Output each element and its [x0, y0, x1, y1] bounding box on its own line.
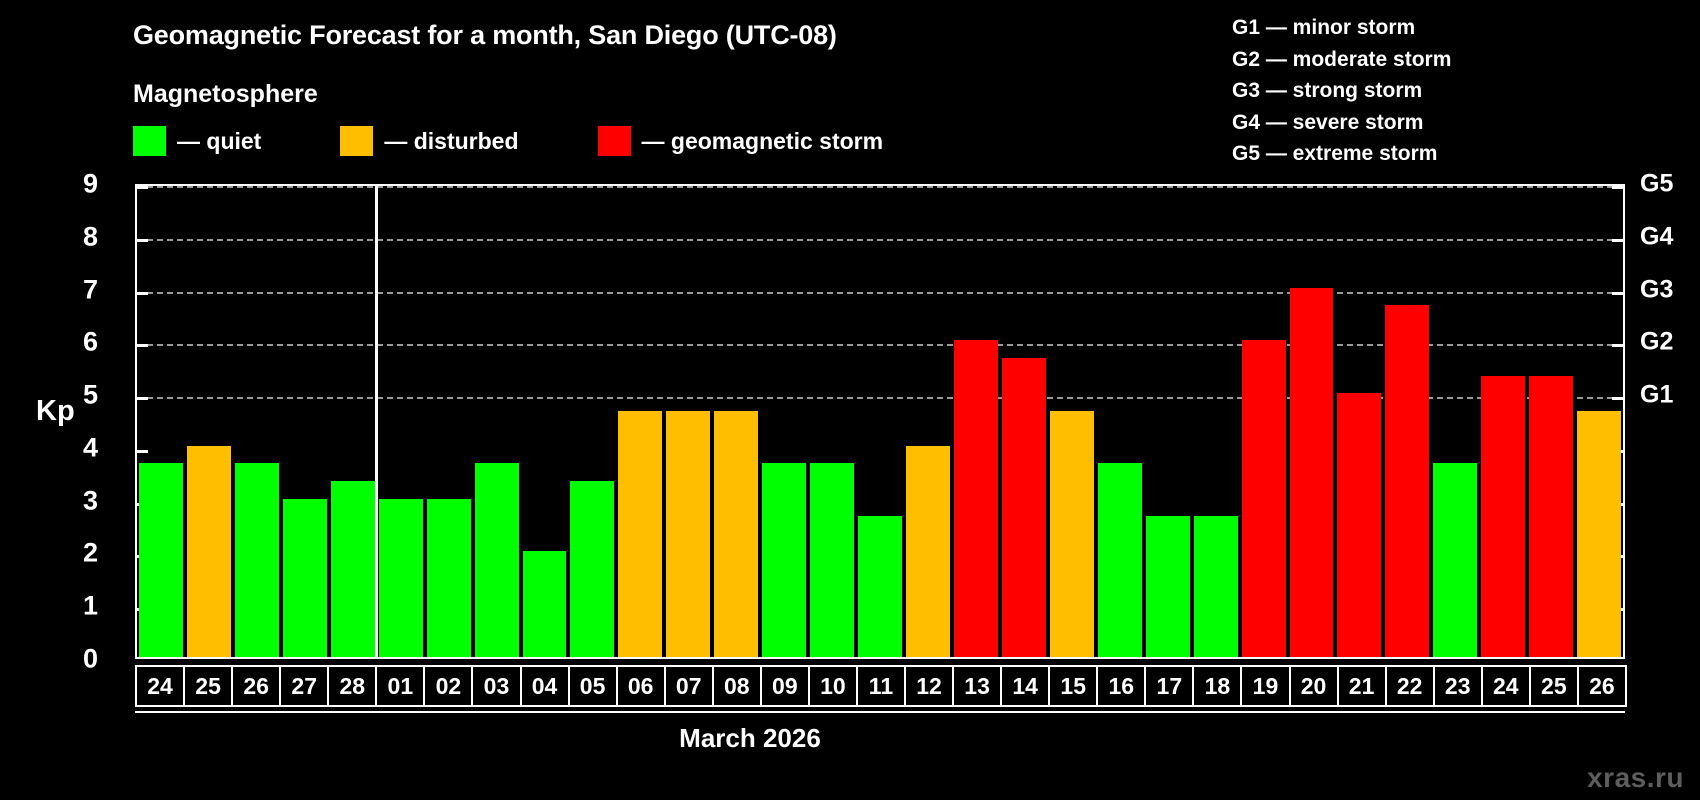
bar-slot	[1048, 186, 1096, 657]
day-label-04[interactable]: 04	[520, 665, 570, 707]
g-tick-label-G1: G1	[1640, 381, 1673, 410]
chart-plot-area	[135, 184, 1625, 659]
y-tick-label-2: 2	[58, 538, 98, 569]
day-label-16[interactable]: 16	[1096, 665, 1146, 707]
day-label-23[interactable]: 23	[1433, 665, 1483, 707]
bar-slot	[1383, 186, 1431, 657]
bar-day-09-quiet[interactable]	[762, 463, 806, 657]
bar-slot	[664, 186, 712, 657]
color-legend: — quiet— disturbed— geomagnetic storm	[133, 125, 883, 157]
bar-slot	[1527, 186, 1575, 657]
y-tick-label-3: 3	[58, 485, 98, 516]
day-label-22[interactable]: 22	[1385, 665, 1435, 707]
bar-slot	[1335, 186, 1383, 657]
bar-day-19-storm[interactable]	[1242, 340, 1286, 657]
bar-day-27-quiet[interactable]	[283, 499, 327, 657]
bar-day-26-disturbed[interactable]	[1577, 411, 1621, 657]
bar-slot	[377, 186, 425, 657]
bar-slot	[1144, 186, 1192, 657]
bar-slot	[1575, 186, 1623, 657]
day-label-06[interactable]: 06	[616, 665, 666, 707]
bar-day-20-storm[interactable]	[1290, 288, 1334, 657]
bar-slot	[137, 186, 185, 657]
g-legend-row-4: G4 — severe storm	[1232, 107, 1451, 139]
bar-day-17-quiet[interactable]	[1146, 516, 1190, 657]
watermark: xras.ru	[1587, 762, 1684, 794]
day-label-15[interactable]: 15	[1048, 665, 1098, 707]
bar-day-06-disturbed[interactable]	[618, 411, 662, 657]
g-legend-row-2: G2 — moderate storm	[1232, 44, 1451, 76]
quiet-legend-swatch-icon	[133, 126, 166, 156]
disturbed-legend-swatch-icon	[340, 126, 373, 156]
x-axis-title: March 2026	[0, 723, 1700, 754]
bar-slot	[281, 186, 329, 657]
storm-legend: — geomagnetic storm	[598, 125, 884, 157]
g-scale-legend: G1 — minor stormG2 — moderate stormG3 — …	[1232, 12, 1451, 170]
y-tick-label-0: 0	[58, 644, 98, 675]
day-label-14[interactable]: 14	[1000, 665, 1050, 707]
g-legend-row-3: G3 — strong storm	[1232, 75, 1451, 107]
bar-day-14-storm[interactable]	[1002, 358, 1046, 657]
bar-day-25-disturbed[interactable]	[187, 446, 231, 657]
quiet-legend: — quiet	[133, 125, 261, 157]
bar-slot	[185, 186, 233, 657]
day-label-03[interactable]: 03	[471, 665, 521, 707]
day-label-02[interactable]: 02	[423, 665, 473, 707]
bar-slot	[521, 186, 569, 657]
g-tick-label-G5: G5	[1640, 170, 1673, 199]
bar-day-12-disturbed[interactable]	[906, 446, 950, 657]
day-label-09[interactable]: 09	[760, 665, 810, 707]
y-tick-label-1: 1	[58, 591, 98, 622]
day-label-26[interactable]: 26	[1577, 665, 1627, 707]
bar-slot	[425, 186, 473, 657]
day-label-26[interactable]: 26	[231, 665, 281, 707]
day-label-05[interactable]: 05	[568, 665, 618, 707]
bar-day-23-quiet[interactable]	[1433, 463, 1477, 657]
bar-slot	[329, 186, 377, 657]
g-legend-row-5: G5 — extreme storm	[1232, 138, 1451, 170]
bar-slot	[712, 186, 760, 657]
bar-day-18-quiet[interactable]	[1194, 516, 1238, 657]
bar-day-24-quiet[interactable]	[139, 463, 183, 657]
bar-day-26-quiet[interactable]	[235, 463, 279, 657]
storm-legend-text: — geomagnetic storm	[642, 128, 884, 155]
bar-day-15-disturbed[interactable]	[1050, 411, 1094, 657]
x-axis-baseline	[135, 711, 1625, 713]
bar-day-07-disturbed[interactable]	[666, 411, 710, 657]
bar-slot	[616, 186, 664, 657]
bar-slot	[1431, 186, 1479, 657]
bar-day-04-quiet[interactable]	[523, 551, 567, 657]
chart-plot-inner	[137, 186, 1623, 657]
day-label-08[interactable]: 08	[712, 665, 762, 707]
day-label-25[interactable]: 25	[1529, 665, 1579, 707]
bar-day-03-quiet[interactable]	[475, 463, 519, 657]
bar-slot	[760, 186, 808, 657]
day-label-25[interactable]: 25	[183, 665, 233, 707]
bar-day-13-storm[interactable]	[954, 340, 998, 657]
day-label-20[interactable]: 20	[1289, 665, 1339, 707]
bar-slot	[1288, 186, 1336, 657]
day-label-28[interactable]: 28	[327, 665, 377, 707]
bar-slot	[1096, 186, 1144, 657]
x-axis-day-labels: 2425262728010203040506070809101112131415…	[135, 665, 1625, 707]
bar-day-25-storm[interactable]	[1529, 376, 1573, 657]
page-title: Geomagnetic Forecast for a month, San Di…	[133, 20, 837, 51]
bar-day-22-storm[interactable]	[1385, 305, 1429, 657]
g-tick-label-G3: G3	[1640, 275, 1673, 304]
magnetosphere-label: Magnetosphere	[133, 80, 318, 109]
disturbed-legend-text: — disturbed	[384, 128, 518, 155]
y-tick-label-6: 6	[58, 327, 98, 358]
bar-slot	[952, 186, 1000, 657]
bar-day-24-storm[interactable]	[1481, 376, 1525, 657]
day-label-27[interactable]: 27	[279, 665, 329, 707]
bar-slot	[233, 186, 281, 657]
bar-slot	[808, 186, 856, 657]
g-legend-row-1: G1 — minor storm	[1232, 12, 1451, 44]
bar-series	[137, 186, 1623, 657]
day-label-11[interactable]: 11	[856, 665, 906, 707]
bar-day-11-quiet[interactable]	[858, 516, 902, 657]
g-tick-label-G2: G2	[1640, 328, 1673, 357]
bar-day-05-quiet[interactable]	[570, 481, 614, 657]
bar-day-02-quiet[interactable]	[427, 499, 471, 657]
day-label-10[interactable]: 10	[808, 665, 858, 707]
day-label-18[interactable]: 18	[1192, 665, 1242, 707]
bar-slot	[1192, 186, 1240, 657]
day-label-07[interactable]: 07	[664, 665, 714, 707]
quiet-legend-text: — quiet	[177, 128, 261, 155]
bar-day-01-quiet[interactable]	[379, 499, 423, 657]
g-tick-label-G4: G4	[1640, 222, 1673, 251]
month-divider	[375, 186, 378, 657]
bar-slot	[473, 186, 521, 657]
bar-day-28-quiet[interactable]	[331, 481, 375, 657]
bar-day-10-quiet[interactable]	[810, 463, 854, 657]
bar-slot	[856, 186, 904, 657]
day-label-12[interactable]: 12	[904, 665, 954, 707]
day-label-21[interactable]: 21	[1337, 665, 1387, 707]
disturbed-legend: — disturbed	[340, 125, 518, 157]
bar-slot	[568, 186, 616, 657]
day-label-24[interactable]: 24	[1481, 665, 1531, 707]
bar-day-08-disturbed[interactable]	[714, 411, 758, 657]
bar-slot	[904, 186, 952, 657]
bar-slot	[1240, 186, 1288, 657]
y-tick-label-5: 5	[58, 380, 98, 411]
y-tick-label-9: 9	[58, 169, 98, 200]
day-label-24[interactable]: 24	[135, 665, 185, 707]
y-tick-label-7: 7	[58, 274, 98, 305]
bar-day-21-storm[interactable]	[1337, 393, 1381, 657]
day-label-19[interactable]: 19	[1240, 665, 1290, 707]
bar-slot	[1000, 186, 1048, 657]
bar-day-16-quiet[interactable]	[1098, 463, 1142, 657]
bar-slot	[1479, 186, 1527, 657]
day-label-01[interactable]: 01	[375, 665, 425, 707]
y-tick-label-8: 8	[58, 221, 98, 252]
day-label-17[interactable]: 17	[1144, 665, 1194, 707]
storm-legend-swatch-icon	[598, 126, 631, 156]
y-tick-label-4: 4	[58, 432, 98, 463]
day-label-13[interactable]: 13	[952, 665, 1002, 707]
